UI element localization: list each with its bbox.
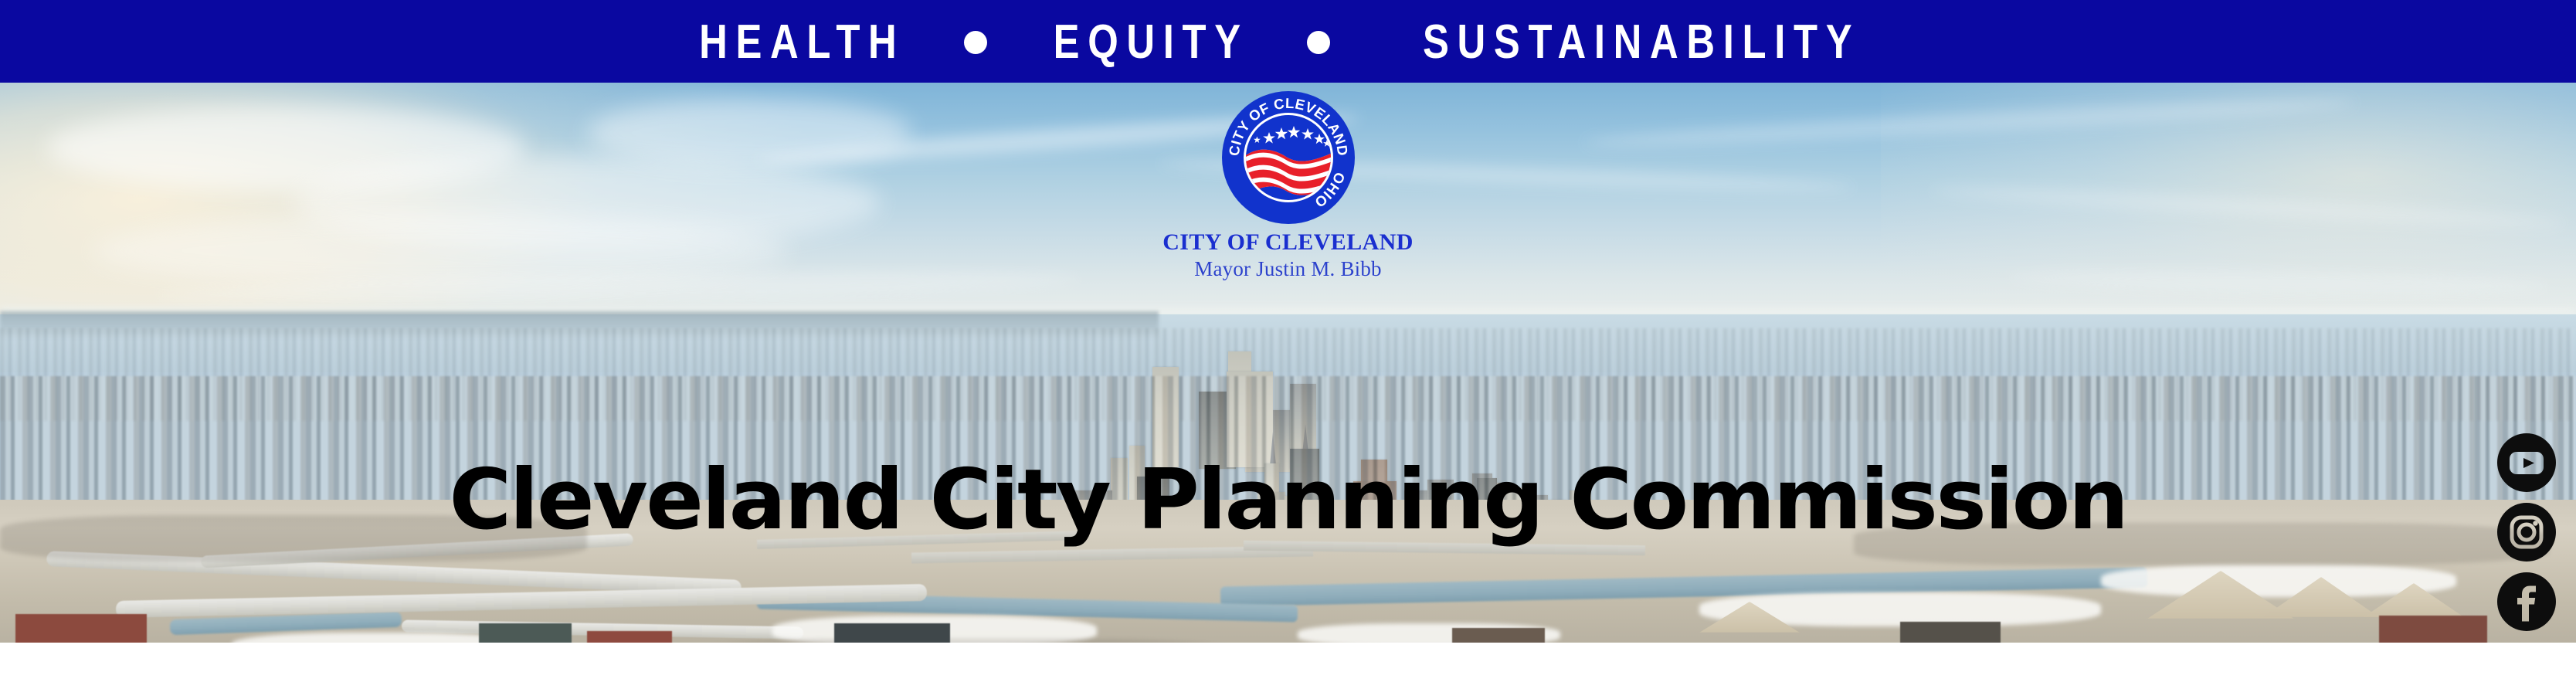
rooftop (587, 631, 672, 643)
rooftop (834, 623, 950, 643)
rooftop (2379, 616, 2487, 643)
rooftop (15, 614, 147, 643)
page-root: HEALTH EQUITY SUSTAINABILITY (0, 0, 2576, 682)
social-links (2496, 433, 2557, 632)
tagline-inner: HEALTH EQUITY SUSTAINABILITY (667, 19, 1909, 66)
tagline-word-equity: EQUITY (1045, 19, 1249, 66)
facebook-icon[interactable] (2496, 572, 2557, 632)
tagline-word-sustainability: SUSTAINABILITY (1414, 19, 1860, 66)
bullet-dot-icon (964, 31, 987, 54)
bottom-white-margin (0, 643, 2576, 682)
seal-inner-disc (1244, 113, 1333, 202)
seal-waving-flag-icon (1244, 143, 1333, 202)
rooftop (1900, 622, 2001, 643)
brand-city-name: CITY OF CLEVELAND (1162, 231, 1414, 254)
rooftop (1452, 628, 1545, 643)
bullet-dot-icon (1307, 31, 1330, 54)
youtube-icon[interactable] (2496, 433, 2557, 493)
instagram-icon[interactable] (2496, 502, 2557, 562)
brand-mayor-name: Mayor Justin M. Bibb (1194, 258, 1382, 280)
city-brand-lockup: CITY OF CLEVELAND OHIO (0, 91, 2576, 280)
city-of-cleveland-seal-icon: CITY OF CLEVELAND OHIO (1222, 91, 1355, 224)
page-title: Cleveland City Planning Commission (0, 457, 2576, 544)
rooftop (479, 623, 572, 643)
tagline-word-health: HEALTH (691, 19, 904, 66)
tagline-banner: HEALTH EQUITY SUSTAINABILITY (0, 0, 2576, 83)
